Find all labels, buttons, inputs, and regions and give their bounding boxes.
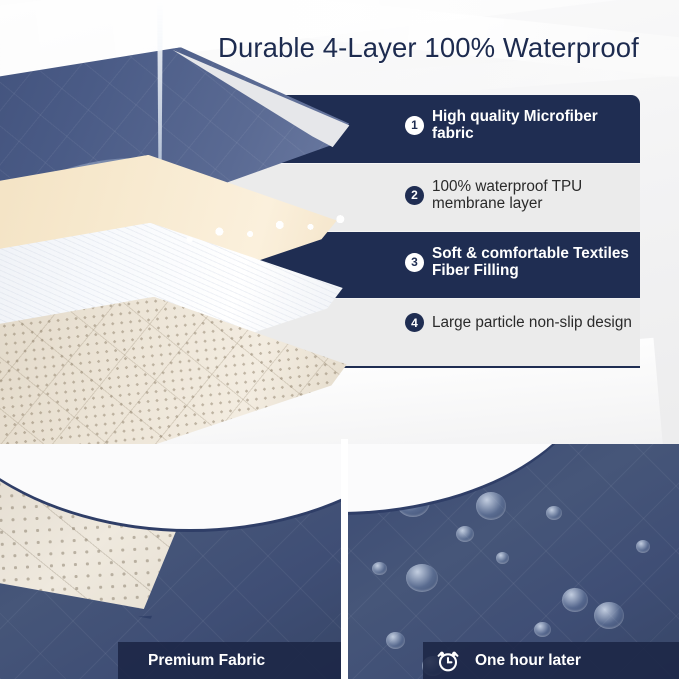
water-droplet xyxy=(546,506,562,520)
panel-caption-right: One hour later xyxy=(423,642,679,679)
one-hour-later-panel: One hour later xyxy=(348,444,679,679)
water-droplet xyxy=(562,588,588,612)
water-droplet xyxy=(534,622,551,637)
feature-item-4: 4 Large particle non-slip design xyxy=(405,313,641,332)
water-droplet xyxy=(636,540,650,553)
panel-caption-text: Premium Fabric xyxy=(148,652,265,670)
alarm-clock-icon xyxy=(435,648,461,674)
water-droplet xyxy=(406,564,438,592)
feature-label: 100% waterproof TPU membrane layer xyxy=(432,178,641,212)
feature-label: Large particle non-slip design xyxy=(432,314,632,331)
water-droplet xyxy=(372,562,387,575)
feature-label: Soft & comfortable Textiles Fiber Fillin… xyxy=(432,245,641,279)
feature-number-badge: 1 xyxy=(405,116,424,135)
water-droplet xyxy=(594,602,624,629)
panel-caption-text: One hour later xyxy=(475,652,581,670)
water-droplet xyxy=(496,552,509,564)
feature-item-1: 1 High quality Microfiber fabric xyxy=(405,108,641,142)
page-title: Durable 4-Layer 100% Waterproof xyxy=(218,32,658,64)
feature-item-2: 2 100% waterproof TPU membrane layer xyxy=(405,178,641,212)
panel-caption-left: Premium Fabric xyxy=(118,642,341,679)
feature-number-badge: 3 xyxy=(405,253,424,272)
premium-fabric-panel: Premium Fabric xyxy=(0,444,341,679)
feature-label: High quality Microfiber fabric xyxy=(432,108,641,142)
feature-number-badge: 4 xyxy=(405,313,424,332)
product-infographic: Durable 4-Layer 100% Waterproof 1 High q… xyxy=(0,0,679,679)
water-droplet xyxy=(456,526,474,542)
panel-divider xyxy=(341,439,348,679)
water-droplet xyxy=(386,632,405,649)
feature-number-badge: 2 xyxy=(405,186,424,205)
water-droplet xyxy=(476,492,506,520)
feature-item-3: 3 Soft & comfortable Textiles Fiber Fill… xyxy=(405,245,641,279)
